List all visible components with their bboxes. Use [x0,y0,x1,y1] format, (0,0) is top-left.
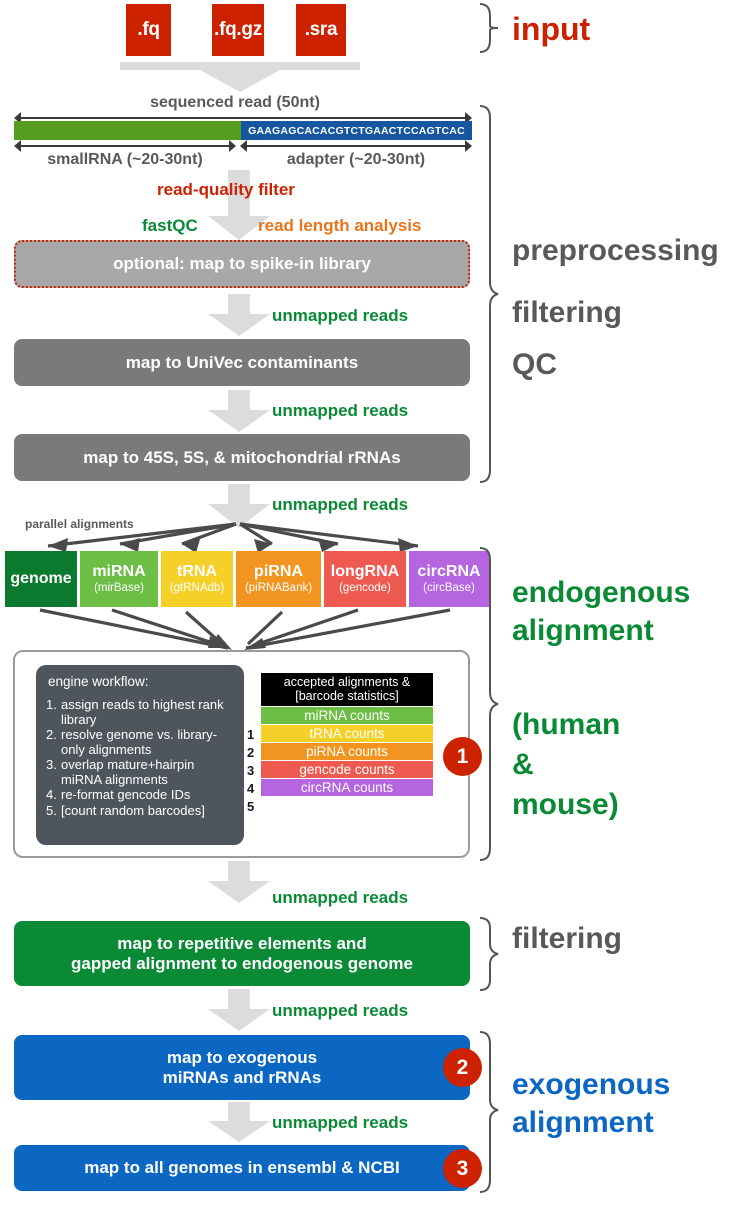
engine-workflow-box: engine workflow: 1. assign reads to high… [36,665,244,845]
section-label-filtering-1: filtering [512,296,622,330]
flow-arrow-7-icon [208,1102,270,1142]
engine-step: 2. resolve genome vs. library-only align… [46,727,238,757]
section-label-input: input [512,12,590,48]
engine-workflow-heading: engine workflow: [48,674,149,689]
adapter-sequence-text: GAAGAGCACACGTCTGAACTCCAGTCAC [248,125,465,137]
engine-step: 3. overlap mature+hairpin miRNA alignmen… [46,757,238,787]
section-label-ampersand: & [512,748,534,782]
section-label-filtering-2: filtering [512,922,622,956]
input-file-sra-label: .sra [305,19,338,41]
section-label-preprocessing: preprocessing [512,234,719,268]
parallel-fanin-arrows-icon [0,604,480,656]
flow-label-unmapped-3: unmapped reads [272,495,408,515]
input-file-fq-label: .fq [137,19,159,41]
flow-label-unmapped-6: unmapped reads [272,1113,408,1133]
library-box-mirna[interactable]: miRNA (mirBase) [80,551,158,607]
counts-row-mirna[interactable]: miRNA counts [261,707,433,724]
section-label-endogenous-2: alignment [512,614,654,648]
flow-arrow-6-icon [208,989,270,1031]
library-box-circrna[interactable]: circRNA (circBase) [409,551,489,607]
library-box-trna[interactable]: tRNA (gtRNAdb) [161,551,233,607]
read-bar-adapter-segment: GAAGAGCACACGTCTGAACTCCAGTCAC [241,121,472,140]
counts-row-gencode[interactable]: gencode counts [261,761,433,778]
flow-arrow-2-icon [208,294,270,336]
engine-step-text: assign reads to highest rank library [61,697,238,727]
input-merge-arrow-icon [120,56,360,94]
smallrna-label: smallRNA (~20-30nt) [10,151,240,169]
section-label-endogenous: endogenous [512,576,690,610]
input-file-fq: .fq [126,4,171,56]
engine-step-text: overlap mature+hairpin miRNA alignments [61,757,238,787]
accepted-alignments-panel: accepted alignments & [barcode statistic… [261,673,433,796]
step-repetitive-elements[interactable]: map to repetitive elements and gapped al… [14,921,470,986]
section-label-mouse: mouse) [512,788,619,822]
engine-step-number: 5. [46,803,58,818]
counts-index-3: 3 [247,763,254,778]
adapter-label: adapter (~20-30nt) [240,151,472,169]
section-label-human: (human [512,708,620,742]
flow-arrow-3-icon [208,390,270,432]
engine-step-number: 1. [46,697,58,727]
badge-3: 3 [443,1149,482,1188]
annotation-read-length-analysis: read length analysis [258,216,421,236]
engine-step-text: re-format gencode IDs [61,787,238,802]
flow-label-unmapped-1: unmapped reads [272,306,408,326]
engine-step-number: 2. [46,727,58,757]
flow-label-unmapped-5: unmapped reads [272,1001,408,1021]
bracket-preprocessing [478,104,500,484]
library-box-longrna[interactable]: longRNA (gencode) [324,551,406,607]
section-label-qc: QC [512,348,557,382]
badge-2: 2 [443,1048,482,1087]
annotation-read-quality-filter: read-quality filter [157,180,295,200]
engine-step: 1. assign reads to highest rank library [46,697,238,727]
counts-row-circrna[interactable]: circRNA counts [261,779,433,796]
flow-label-unmapped-4: unmapped reads [272,888,408,908]
read-bar-smallrna-segment [14,121,241,140]
counts-row-trna[interactable]: tRNA counts [261,725,433,742]
step-univec-contaminants[interactable]: map to UniVec contaminants [14,339,470,386]
engine-step: 5. [count random barcodes] [46,803,238,818]
section-label-exogenous: exogenous [512,1068,670,1102]
bracket-input [478,2,500,54]
accepted-alignments-header: accepted alignments & [barcode statistic… [261,673,433,706]
sequenced-read-label: sequenced read (50nt) [0,94,470,112]
flow-label-unmapped-2: unmapped reads [272,401,408,421]
engine-step-number: 3. [46,757,58,787]
step-rrna[interactable]: map to 45S, 5S, & mitochondrial rRNAs [14,434,470,481]
read-bar: GAAGAGCACACGTCTGAACTCCAGTCAC [14,121,472,140]
input-file-fqgz-label: .fq.gz [214,19,262,41]
counts-index-2: 2 [247,745,254,760]
annotation-fastqc: fastQC [142,216,198,236]
step-all-genomes[interactable]: map to all genomes in ensembl & NCBI [14,1145,470,1191]
step-spike-in-library[interactable]: optional: map to spike-in library [14,240,470,288]
input-file-fqgz: .fq.gz [212,4,264,56]
library-box-genome[interactable]: genome [5,551,77,607]
input-file-sra: .sra [296,4,346,56]
pipeline-diagram: .fq .fq.gz .sra input sequenced read (50… [0,0,735,1214]
engine-step-text: [count random barcodes] [61,803,238,818]
bracket-filtering-2 [478,916,500,992]
library-box-pirna[interactable]: piRNA (piRNABank) [236,551,321,607]
engine-step-number: 4. [46,787,58,802]
engine-step-text: resolve genome vs. library-only alignmen… [61,727,238,757]
step-exogenous-mirnas-rrnas[interactable]: map to exogenous miRNAs and rRNAs [14,1035,470,1100]
counts-index-1: 1 [247,727,254,742]
section-label-exogenous-2: alignment [512,1106,654,1140]
engine-step: 4. re-format gencode IDs [46,787,238,802]
counts-index-4: 4 [247,781,254,796]
badge-1: 1 [443,737,482,776]
counts-index-5: 5 [247,799,254,814]
bracket-exogenous [478,1030,500,1194]
counts-row-pirna[interactable]: piRNA counts [261,743,433,760]
bracket-endogenous [478,546,500,862]
flow-arrow-5-icon [208,861,270,903]
engine-workflow-list: 1. assign reads to highest rank library … [46,697,238,818]
